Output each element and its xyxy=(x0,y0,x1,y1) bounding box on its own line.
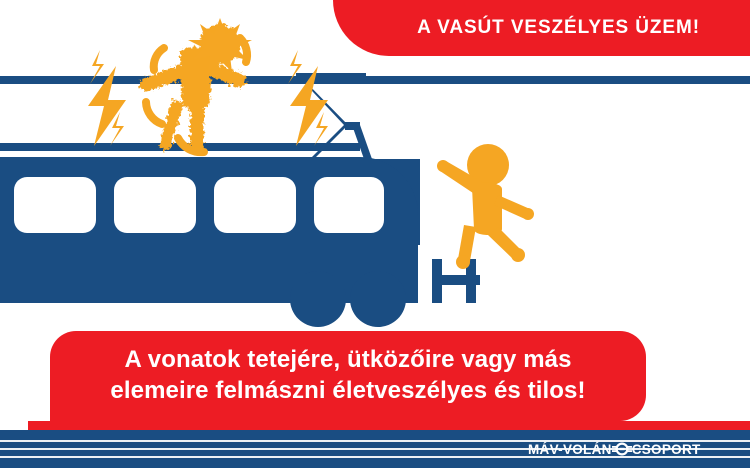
bottom-banner-line-1: A vonatok tetejére, ütközőire vagy más xyxy=(124,345,571,376)
top-warning-banner: A VASÚT VESZÉLYES ÜZEM! xyxy=(333,0,750,56)
mav-volan-csoport-logo: MÁV-VOLÁNCSOPORT xyxy=(528,436,701,462)
train-window xyxy=(314,177,384,233)
train-window xyxy=(14,177,96,233)
train-wheel xyxy=(290,271,346,327)
bottom-banner-line-2: elemeire felmászni életveszélyes és tilo… xyxy=(110,376,585,407)
climbing-person xyxy=(432,143,536,268)
electrocuted-person xyxy=(128,20,268,170)
train-window xyxy=(114,177,196,233)
bottom-warning-banner: A vonatok tetejére, ütközőire vagy más e… xyxy=(50,331,646,421)
top-banner-text: A VASÚT VESZÉLYES ÜZEM! xyxy=(417,17,700,39)
train-wheel xyxy=(350,271,406,327)
logo-text-right: CSOPORT xyxy=(632,442,701,457)
footer-red-strip xyxy=(28,421,750,430)
logo-text-left: MÁV-VOLÁN xyxy=(528,442,612,457)
safety-poster: A VASÚT VESZÉLYES ÜZEM! A vonatok tetejé… xyxy=(0,0,750,468)
lightning-bolt-small xyxy=(288,50,302,84)
lightning-bolt-small xyxy=(90,50,104,84)
lightning-bolt-group-left xyxy=(72,50,136,150)
lightning-bolt-group-right xyxy=(274,50,338,150)
logo-text: MÁV-VOLÁNCSOPORT xyxy=(528,441,701,457)
train-window xyxy=(214,177,296,233)
mav-emblem-icon xyxy=(612,442,632,456)
